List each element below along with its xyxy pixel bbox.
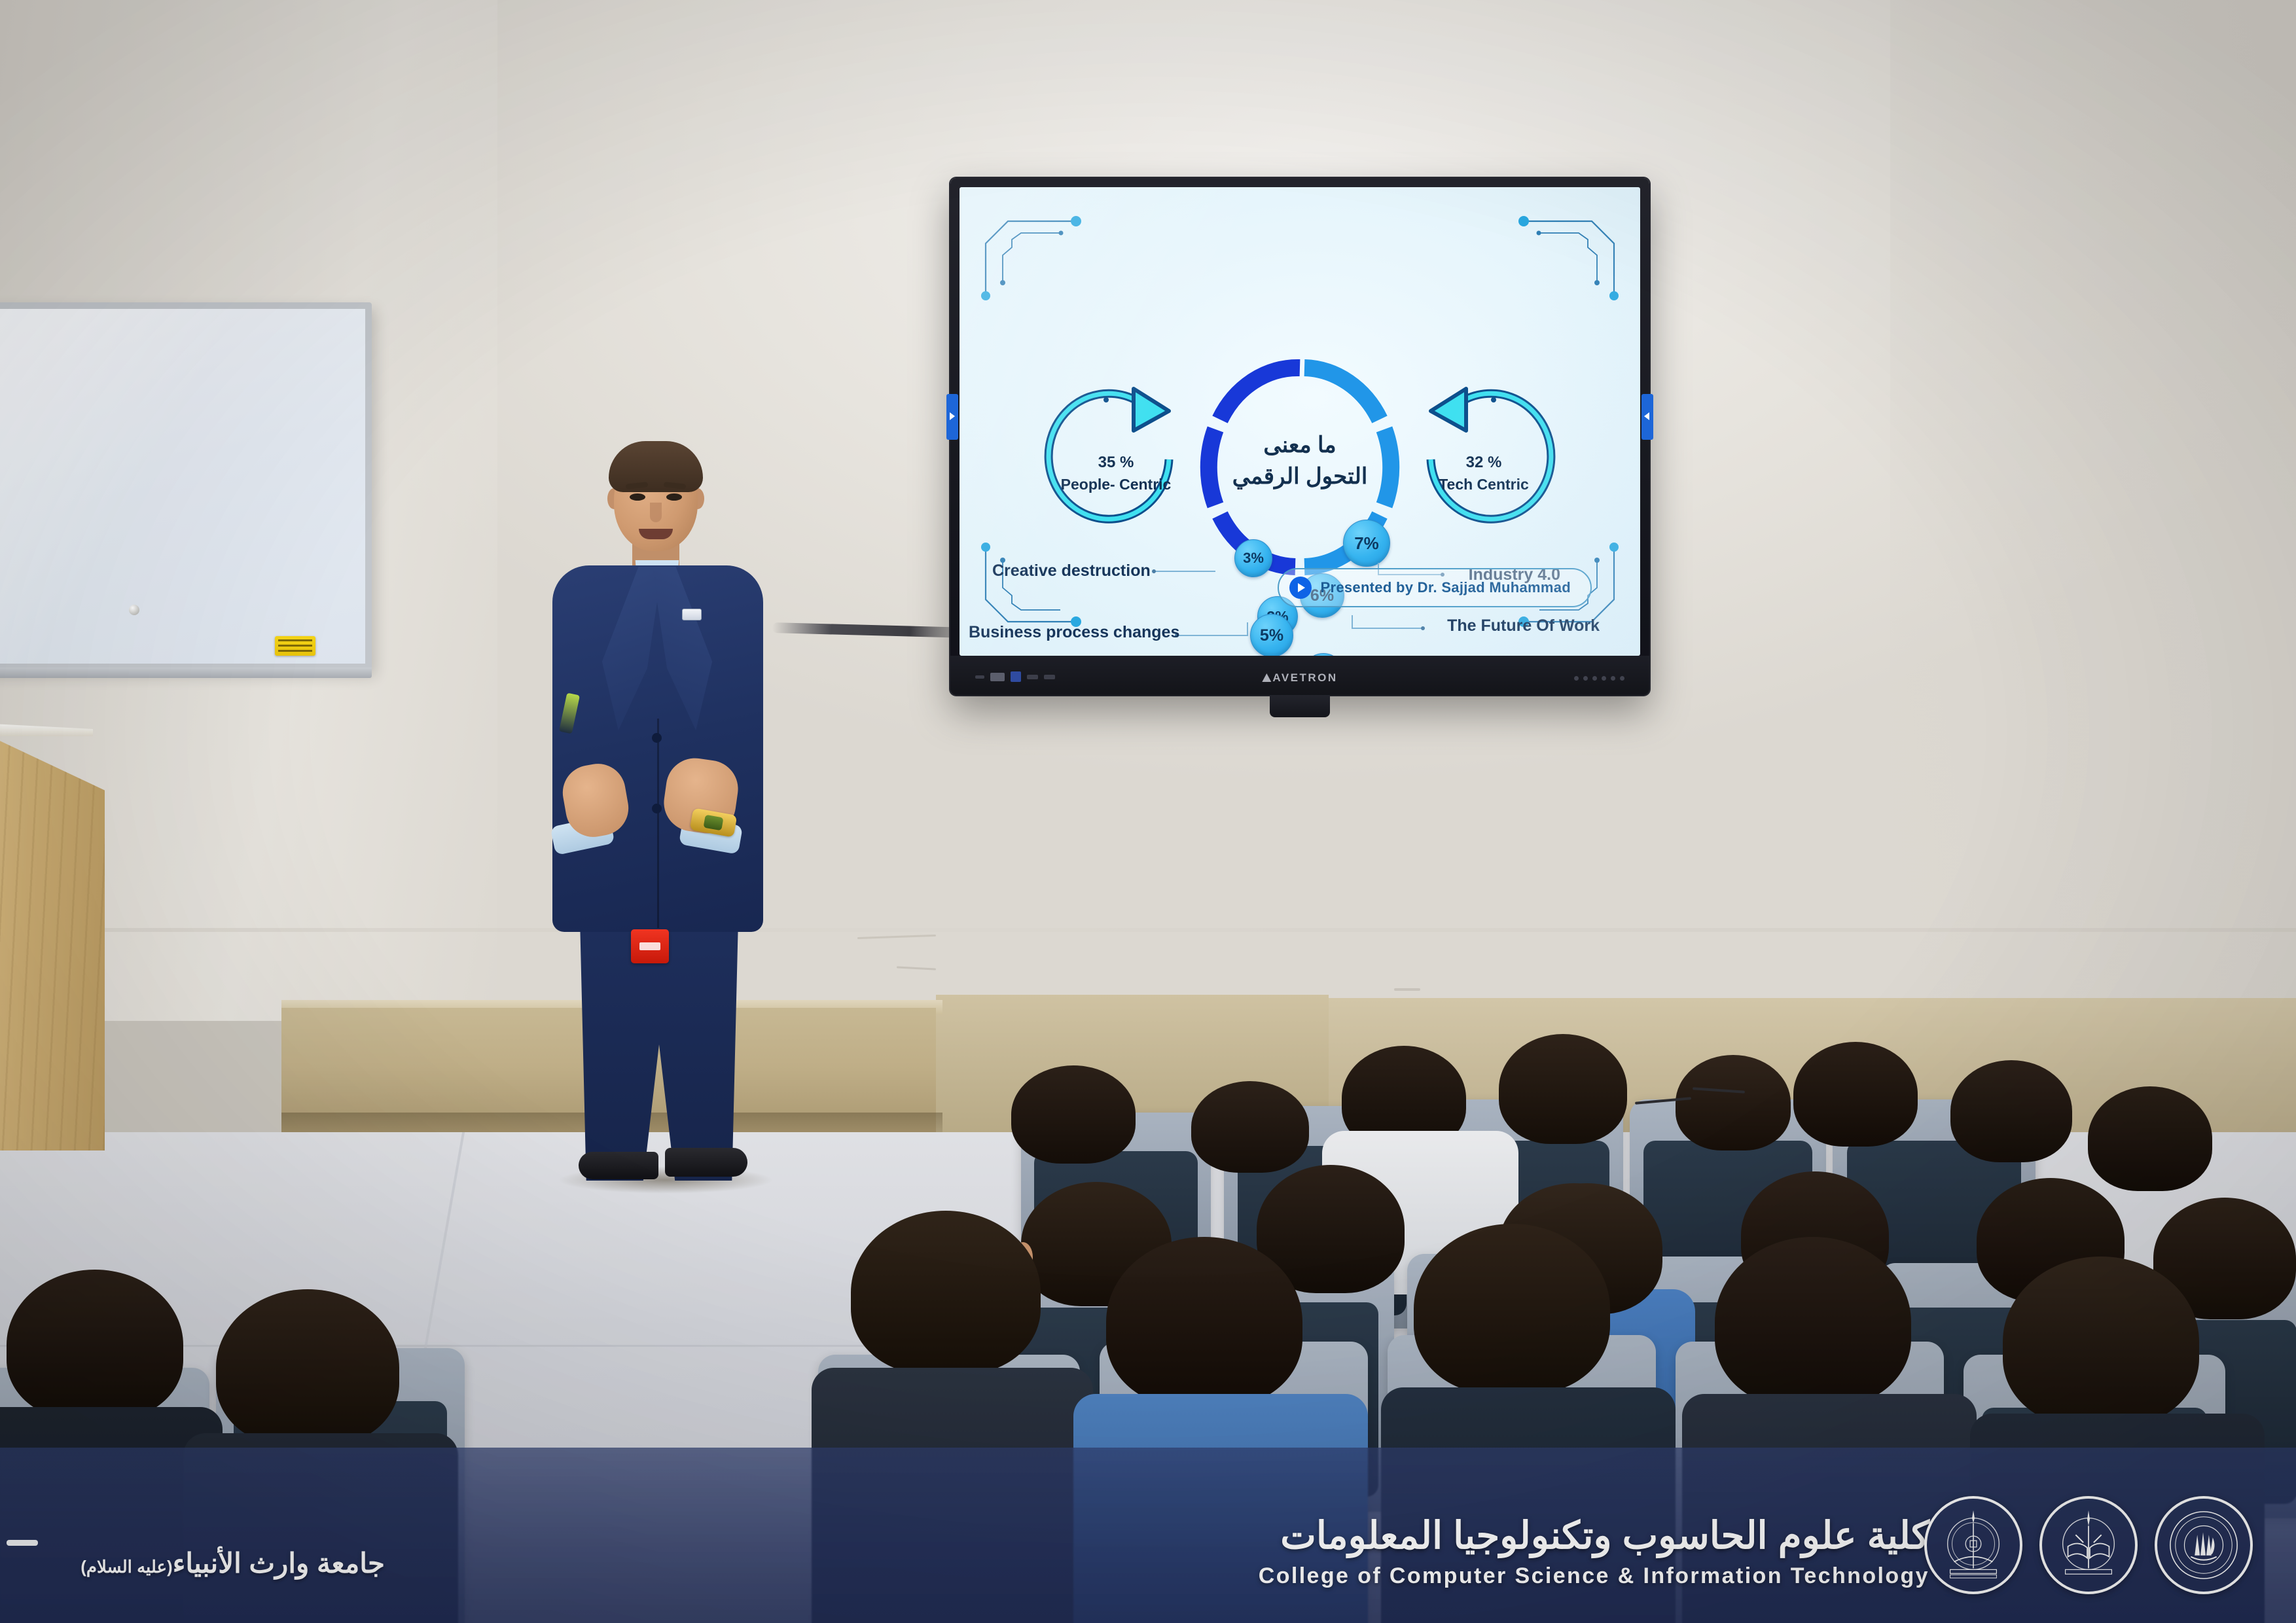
presenter-mouth (639, 529, 673, 539)
wall-shadow-right (1890, 0, 2296, 1021)
interactive-display[interactable]: ما معنى التحول الرقمي 35 % People- Centr (950, 178, 1649, 695)
display-panel: ما معنى التحول الرقمي 35 % People- Centr (960, 187, 1640, 656)
circuit-corner-icon (1499, 204, 1623, 302)
ministry-seal-logo (2155, 1496, 2253, 1594)
presenter-eye-left (630, 493, 645, 501)
footer-banner: كلية علوم الحاسوب وتكنولوجيا المعلومات C… (0, 1448, 2296, 1623)
lecture-hall-photo: ما معنى التحول الرقمي 35 % People- Centr (0, 0, 2296, 1623)
attendee-head (2003, 1257, 2199, 1427)
display-brand-text: AVETRON (1272, 671, 1337, 684)
university-name-main: جامعة وارث الأنبياء (173, 1548, 385, 1578)
donut-center-title: ما معنى التحول الرقمي (1196, 429, 1404, 493)
display-ports[interactable] (975, 671, 1055, 682)
attendee-head (1414, 1224, 1610, 1394)
tech-centric-text: Tech Centric (1439, 476, 1529, 493)
attendee-head (7, 1270, 183, 1420)
stat-bubble: 3% (1234, 539, 1272, 577)
presenter-hair (609, 441, 703, 492)
attendee-head (1191, 1081, 1309, 1173)
left-item-label: Creative destruction (992, 562, 1151, 580)
tech-centric-percent: 32 % (1408, 452, 1559, 474)
attendee-head (1950, 1060, 2072, 1162)
presenter-jacket-button (652, 733, 662, 743)
stat-bubble-value: 5% (1260, 626, 1283, 645)
stat-bubble-value: 7% (1354, 533, 1379, 554)
display-right-tab-icon[interactable] (1641, 394, 1653, 440)
presented-by-badge: Presented by Dr. Sajjad Muhammad (1278, 568, 1592, 607)
attendee-head (851, 1211, 1041, 1374)
attendee-head (1106, 1237, 1302, 1407)
display-left-tab-icon[interactable] (946, 394, 958, 440)
left-item-label: Business process changes (969, 623, 1179, 642)
attendee-head (1793, 1042, 1918, 1147)
leader-line (1153, 557, 1238, 583)
attendee-head (1011, 1065, 1136, 1164)
presenter-eye-right (666, 493, 682, 501)
whiteboard-sticker (275, 636, 315, 656)
circuit-corner-icon (977, 204, 1101, 302)
attendee-head (216, 1289, 399, 1446)
play-icon (1289, 577, 1312, 599)
whiteboard-screw (129, 605, 139, 615)
college-branding: كلية علوم الحاسوب وتكنولوجيا المعلومات C… (1259, 1515, 1929, 1589)
presenter-nose (650, 503, 662, 522)
display-wall-mount (1270, 695, 1330, 717)
attendee-head (1676, 1055, 1791, 1150)
university-name-suffix: (عليه السلام) (81, 1557, 172, 1577)
presenter-lapel-pin (682, 609, 702, 620)
presentation-slide: ما معنى التحول الرقمي 35 % People- Centr (960, 187, 1640, 656)
tech-centric-circle: 32 % Tech Centric (1408, 383, 1559, 534)
people-centric-text: People- Centric (1061, 476, 1172, 493)
right-item-label: The Future Of Work (1447, 616, 1600, 635)
university-name-arabic: جامعة وارث الأنبياء(عليه السلام) (18, 1547, 385, 1580)
university-seal-logo (2039, 1496, 2138, 1594)
display-brand-logo: AVETRON (1262, 671, 1337, 685)
stat-bubble-value: 3% (1243, 550, 1264, 567)
people-centric-circle: 35 % People- Centric (1041, 383, 1191, 534)
people-centric-percent: 35 % (1041, 452, 1191, 474)
display-indicator-lights (1574, 676, 1624, 681)
presenter-jacket-button (652, 804, 662, 813)
presented-by-text: Presented by Dr. Sajjad Muhammad (1321, 579, 1571, 596)
whiteboard (0, 302, 372, 670)
footer-dash (7, 1540, 38, 1546)
attendee-head (1715, 1237, 1911, 1407)
college-name-english: College of Computer Science & Informatio… (1259, 1563, 1929, 1589)
people-centric-label: 35 % People- Centric (1041, 452, 1191, 495)
stat-bubble: 5% (1250, 614, 1293, 656)
college-name-arabic: كلية علوم الحاسوب وتكنولوجيا المعلومات (1259, 1515, 1929, 1557)
donut-title-line-2: التحول الرقمي (1196, 461, 1404, 492)
display-bezel-bottom: AVETRON (950, 656, 1649, 695)
attendee-head (1499, 1034, 1627, 1144)
donut-title-line-1: ما معنى (1196, 429, 1404, 461)
institution-logos (1924, 1496, 2253, 1594)
leader-line (1326, 611, 1424, 639)
tech-centric-label: 32 % Tech Centric (1408, 452, 1559, 495)
attendee-head (2088, 1086, 2212, 1191)
whiteboard-marker-tray (0, 668, 372, 678)
college-seal-logo (1924, 1496, 2022, 1594)
